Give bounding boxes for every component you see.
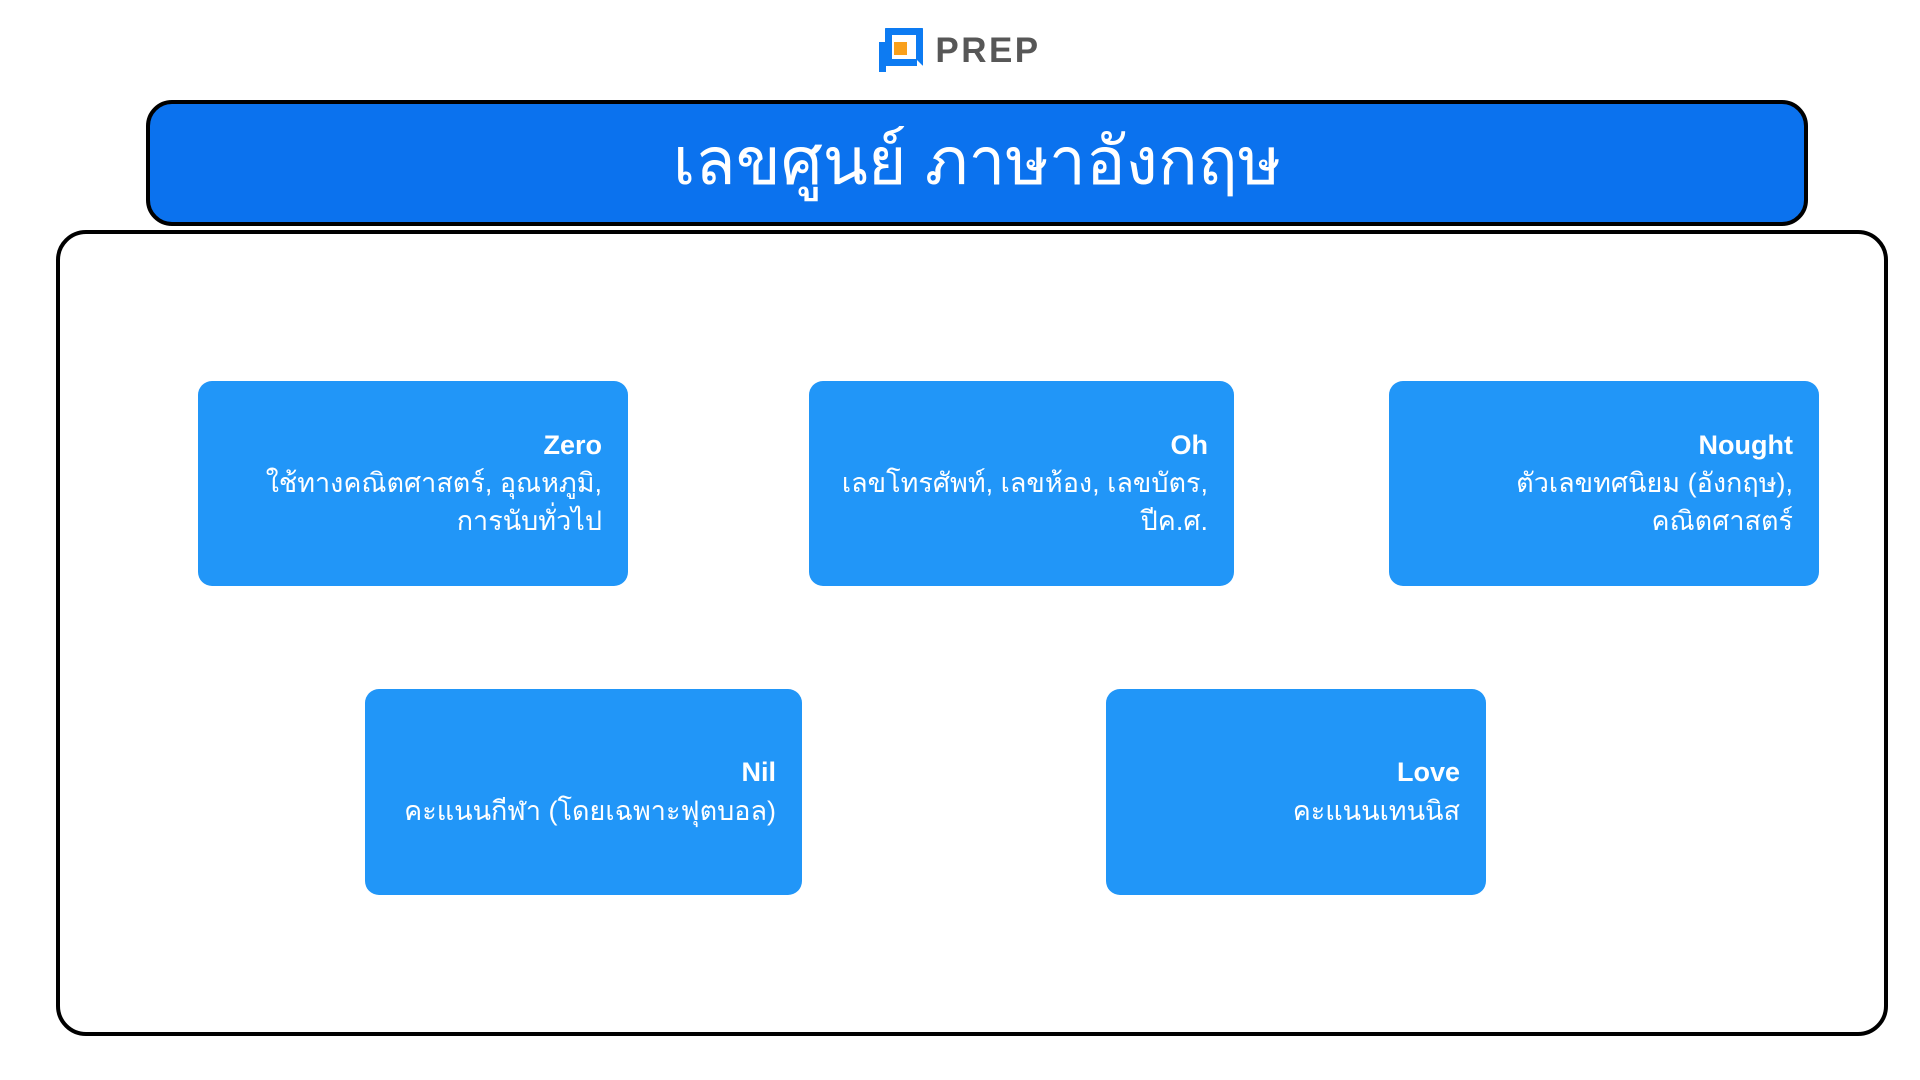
logo-accent-square — [894, 42, 907, 55]
term-card-oh[interactable]: Oh เลขโทรศัพท์, เลขห้อง, เลขบัตร, ปีค.ศ. — [809, 381, 1234, 586]
term-card-nil[interactable]: Nil คะแนนกีฬา (โดยเฉพาะฟุตบอล) — [365, 689, 802, 895]
term-card-description: ใช้ทางคณิตศาสตร์, อุณหภูมิ, การนับทั่วไป — [224, 465, 602, 540]
header-banner: เลขศูนย์ ภาษาอังกฤษ — [146, 100, 1808, 226]
term-card-description: คะแนนเทนนิส — [1132, 793, 1460, 830]
term-card-nought[interactable]: Nought ตัวเลขทศนิยม (อังกฤษ), คณิตศาสตร์ — [1389, 381, 1819, 586]
prep-logo-icon — [879, 28, 923, 72]
logo-stem-shape — [879, 42, 886, 72]
content-panel: Zero ใช้ทางคณิตศาสตร์, อุณหภูมิ, การนับท… — [56, 230, 1888, 1036]
term-card-description: คะแนนกีฬา (โดยเฉพาะฟุตบอล) — [391, 793, 776, 830]
brand-header: PREP — [0, 22, 1920, 78]
logo-foot-shape — [885, 59, 917, 66]
term-card-title: Zero — [224, 427, 602, 463]
term-card-description: เลขโทรศัพท์, เลขห้อง, เลขบัตร, ปีค.ศ. — [835, 465, 1208, 540]
brand-wordmark: PREP — [935, 33, 1040, 68]
term-card-title: Nil — [391, 754, 776, 790]
term-card-love[interactable]: Love คะแนนเทนนิส — [1106, 689, 1486, 895]
term-card-zero[interactable]: Zero ใช้ทางคณิตศาสตร์, อุณหภูมิ, การนับท… — [198, 381, 628, 586]
page-title: เลขศูนย์ ภาษาอังกฤษ — [673, 120, 1282, 203]
term-card-title: Love — [1132, 754, 1460, 790]
card-grid: Zero ใช้ทางคณิตศาสตร์, อุณหภูมิ, การนับท… — [60, 234, 1884, 1032]
term-card-description: ตัวเลขทศนิยม (อังกฤษ), คณิตศาสตร์ — [1415, 465, 1793, 540]
term-card-title: Nought — [1415, 427, 1793, 463]
term-card-title: Oh — [835, 427, 1208, 463]
